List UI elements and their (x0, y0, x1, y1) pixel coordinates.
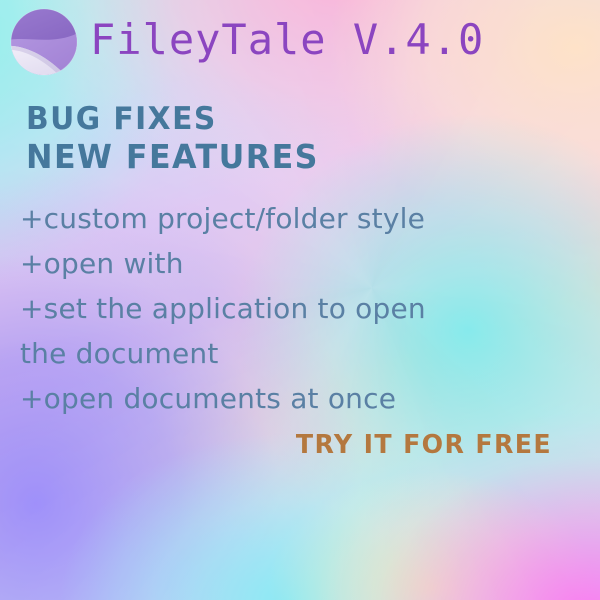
feature-list-item: +set the application to open (20, 286, 580, 331)
feature-list-item: +open with (20, 241, 580, 286)
headline-new-features: NEW FEATURES (26, 138, 319, 176)
header: FileyTale V.4.0 (8, 6, 484, 78)
promo-card: FileyTale V.4.0 BUG FIXES NEW FEATURES +… (0, 0, 600, 600)
feature-list: +custom project/folder style +open with … (20, 196, 580, 421)
headline-bug-fixes: BUG FIXES (26, 100, 319, 138)
headline-block: BUG FIXES NEW FEATURES (26, 100, 331, 176)
try-it-for-free-cta[interactable]: TRY IT FOR FREE (296, 430, 552, 460)
feature-list-item: +custom project/folder style (20, 196, 580, 241)
feature-list-item: +open documents at once (20, 376, 580, 421)
filey-tale-circle-logo-icon (8, 6, 80, 78)
promo-content: FileyTale V.4.0 BUG FIXES NEW FEATURES +… (0, 0, 600, 600)
app-title: FileyTale V.4.0 (90, 19, 484, 65)
feature-list-item: the document (20, 331, 580, 376)
